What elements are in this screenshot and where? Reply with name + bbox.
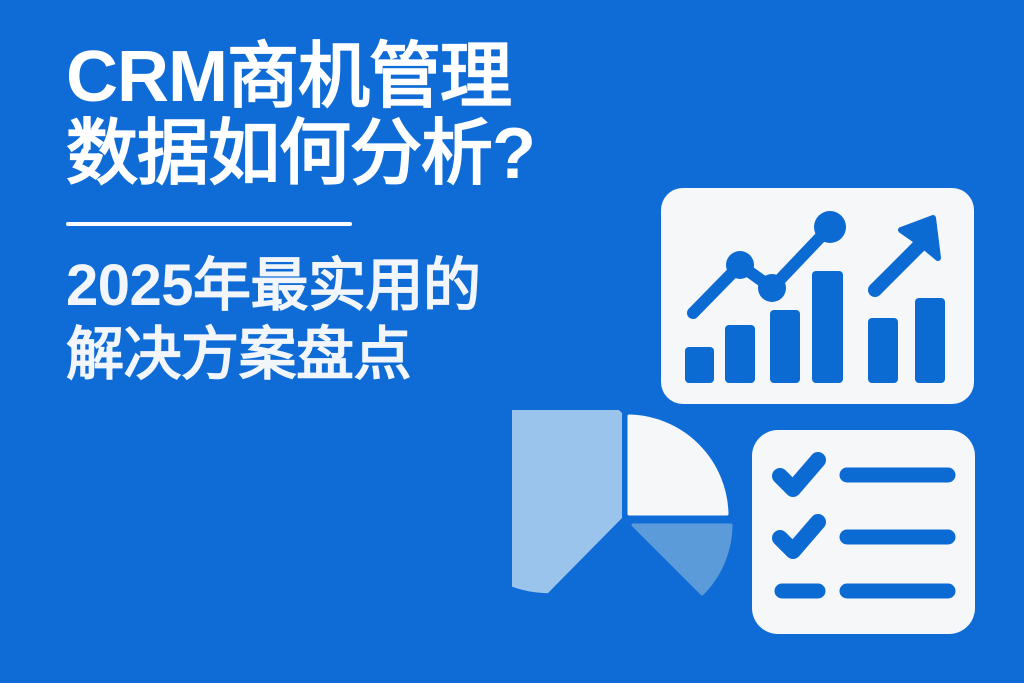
subtitle-line-1: 2025年最实用的 bbox=[66, 254, 686, 319]
checkmark-2 bbox=[780, 522, 818, 551]
up-right-arrow bbox=[875, 218, 938, 290]
chart-bar-4 bbox=[812, 271, 843, 383]
page-title-line-1: CRM商机管理 bbox=[66, 40, 686, 115]
pie-slice-b bbox=[629, 416, 727, 514]
checklist-card bbox=[752, 430, 975, 634]
chart-bar-5 bbox=[868, 318, 898, 383]
page-title-line-2: 数据如何分析? bbox=[66, 117, 686, 192]
checklist-icon bbox=[752, 430, 975, 634]
pie-slice-a bbox=[512, 410, 622, 593]
bar-chart-card bbox=[661, 188, 974, 404]
trend-point-1 bbox=[726, 251, 754, 279]
trend-point-2 bbox=[758, 274, 786, 302]
growth-chart-icon bbox=[661, 188, 974, 404]
trend-line bbox=[693, 227, 830, 313]
segment-pie-chart bbox=[512, 410, 734, 632]
subtitle-line-2: 解决方案盘点 bbox=[66, 323, 686, 388]
pie-chart-icon bbox=[512, 410, 734, 632]
title-divider bbox=[66, 222, 352, 226]
chart-bar-1 bbox=[685, 347, 714, 383]
pie-slice-c bbox=[633, 525, 731, 594]
poster-canvas: CRM商机管理 数据如何分析? 2025年最实用的 解决方案盘点 bbox=[0, 0, 1024, 683]
trend-point-3 bbox=[814, 211, 846, 243]
chart-bar-6 bbox=[915, 298, 945, 383]
chart-bar-2 bbox=[725, 325, 755, 383]
chart-bar-3 bbox=[770, 310, 800, 383]
checkmark-1 bbox=[780, 460, 818, 489]
headline-block: CRM商机管理 数据如何分析? 2025年最实用的 解决方案盘点 bbox=[66, 40, 686, 388]
